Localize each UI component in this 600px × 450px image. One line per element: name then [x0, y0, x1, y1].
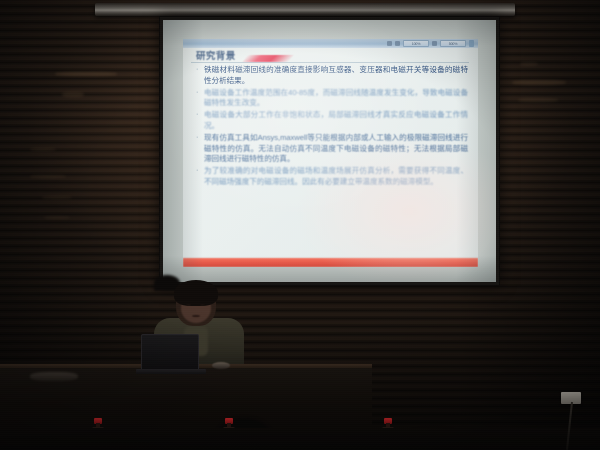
- conference-room-scene: 100% 500% 研究背景 · 铁磁材料磁滞回线的准确度直接影响互感器、变压器…: [0, 0, 600, 450]
- slide-title: 研究背景: [196, 48, 236, 62]
- wall-glint: [55, 72, 117, 76]
- wall-glint: [512, 80, 566, 85]
- bullet-text: 电磁设备大部分工作在非饱和状态，局部磁滞回线才真实反应电磁设备工作情况。: [204, 110, 468, 131]
- bullet-text: 为了较准确的对电磁设备的磁场和温度场展开仿真分析，需要获得不同温度、不同磁场强度…: [204, 166, 468, 187]
- list-item: · 电磁设备大部分工作在非饱和状态，局部磁滞回线才真实反应电磁设备工作情况。: [196, 110, 468, 131]
- presenter-eye-right: [200, 304, 205, 306]
- presenter-hair: [174, 280, 218, 306]
- pointer-icon[interactable]: [387, 41, 392, 46]
- bullet-text: 现有仿真工具如Ansys,maxwell等只能根据内部或人工输入的极限磁滞回线进…: [204, 133, 468, 165]
- laptop-base: [136, 369, 206, 374]
- wall-glint: [62, 92, 84, 97]
- projection-screen-surface: 100% 500% 研究背景 · 铁磁材料磁滞回线的准确度直接影响互感器、变压器…: [163, 20, 496, 282]
- list-item: · 铁磁材料磁滞回线的准确度直接影响互感器、变压器和电磁开关等设备的磁特性分析结…: [196, 65, 468, 86]
- computer-mouse: [212, 362, 230, 369]
- slide-title-area: 研究背景: [183, 47, 478, 63]
- wall-glint: [42, 196, 72, 199]
- slide-bullet-list: · 铁磁材料磁滞回线的准确度直接影响互感器、变压器和电磁开关等设备的磁特性分析结…: [196, 65, 468, 189]
- bullet-marker-icon: ·: [196, 88, 204, 109]
- list-item: · 现有仿真工具如Ansys,maxwell等只能根据内部或人工输入的极限磁滞回…: [196, 133, 468, 165]
- title-accent-swoosh: [242, 55, 293, 62]
- bullet-marker-icon: ·: [196, 110, 204, 131]
- papers-on-desk: [30, 372, 78, 381]
- title-divider: [191, 62, 469, 63]
- wall-glint: [520, 62, 538, 66]
- wall-glint: [44, 216, 70, 219]
- laptop-screen: [141, 334, 199, 372]
- presenter-mouth: [192, 315, 200, 317]
- projection-screen: 100% 500% 研究背景 · 铁磁材料磁滞回线的准确度直接影响互感器、变压器…: [159, 16, 500, 286]
- bullet-marker-icon: ·: [196, 65, 204, 86]
- zoom-icon[interactable]: [395, 41, 400, 46]
- foreground-table: [0, 428, 600, 450]
- bullet-text: 电磁设备工作温度范围在40-85度，而磁滞回线随温度发生变化，导致电磁设备磁特性…: [204, 88, 468, 109]
- presenter-eye-left: [186, 304, 191, 306]
- bullet-marker-icon: ·: [196, 133, 204, 165]
- wall-glint: [30, 175, 66, 178]
- wall-glint: [518, 98, 558, 102]
- slide-bottom-accent-bar: [183, 258, 478, 267]
- zoom-level-button-2[interactable]: 500%: [440, 40, 466, 47]
- bullet-marker-icon: ·: [196, 166, 204, 187]
- wall-glint: [30, 148, 56, 151]
- list-item: · 为了较准确的对电磁设备的磁场和温度场展开仿真分析，需要获得不同温度、不同磁场…: [196, 166, 468, 187]
- chevron-down-icon[interactable]: [432, 41, 437, 46]
- projection-screen-roller: [95, 3, 515, 16]
- bullet-text: 铁磁材料磁滞回线的准确度直接影响互感器、变压器和电磁开关等设备的磁特性分析结果。: [204, 65, 468, 86]
- zoom-level-button-1[interactable]: 100%: [403, 40, 429, 47]
- close-icon[interactable]: [469, 40, 474, 47]
- list-item: · 电磁设备工作温度范围在40-85度，而磁滞回线随温度发生变化，导致电磁设备磁…: [196, 88, 468, 109]
- presentation-slide: 100% 500% 研究背景 · 铁磁材料磁滞回线的准确度直接影响互感器、变压器…: [183, 39, 478, 267]
